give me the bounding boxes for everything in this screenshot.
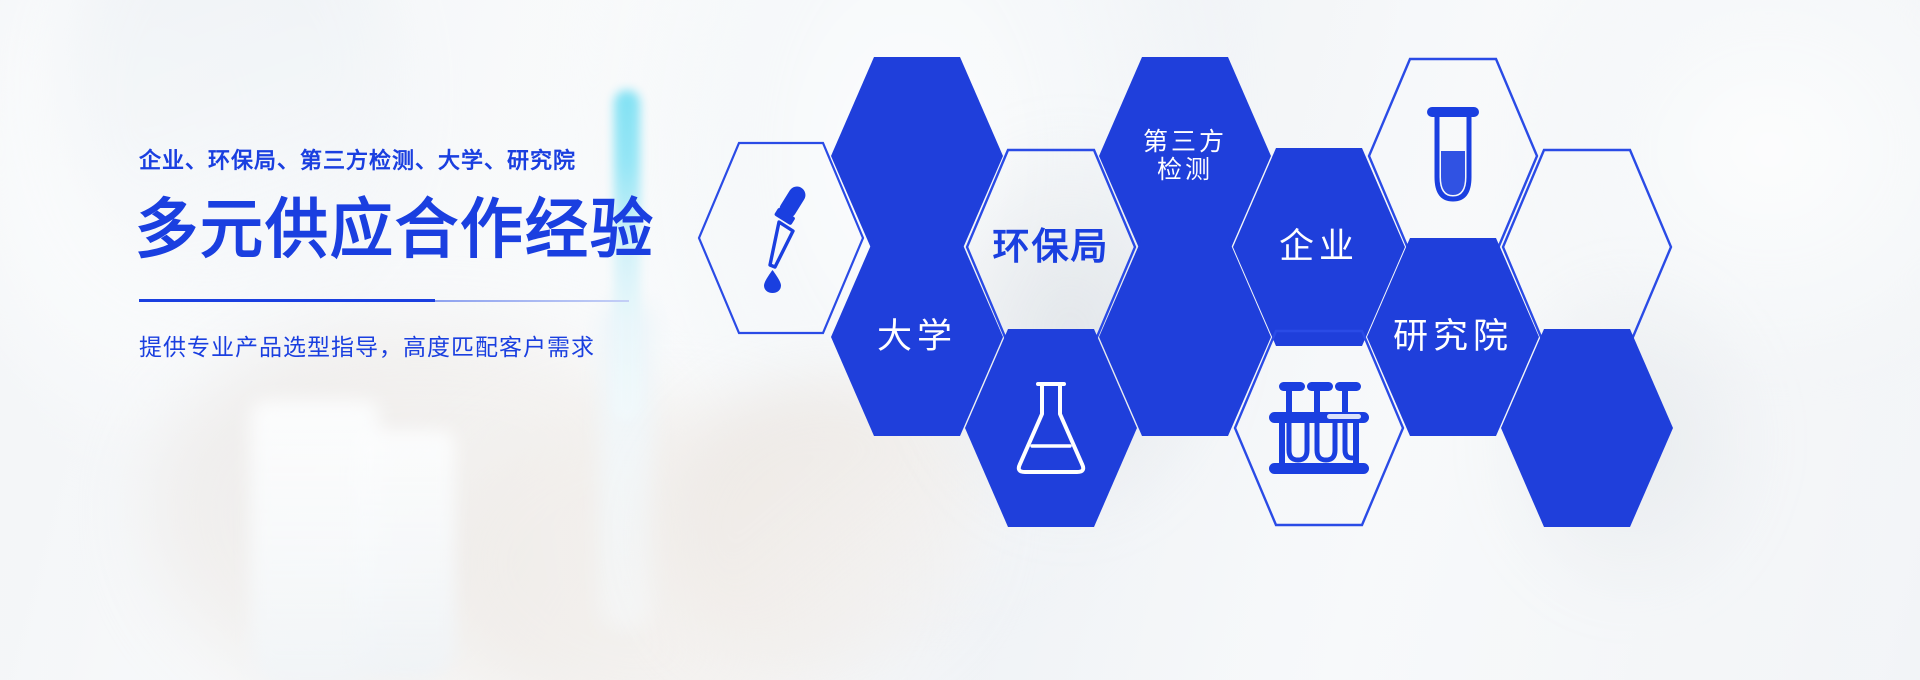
promo-banner: 企业、环保局、第三方检测、大学、研究院 多元供应合作经验 提供专业产品选型指导，… <box>0 0 1920 680</box>
hexagon-edge-solid[interactable] <box>1501 329 1673 527</box>
hexagon-cluster: 大学 环保局 <box>0 0 1920 680</box>
hexagon-edge-outline[interactable] <box>1501 148 1673 346</box>
